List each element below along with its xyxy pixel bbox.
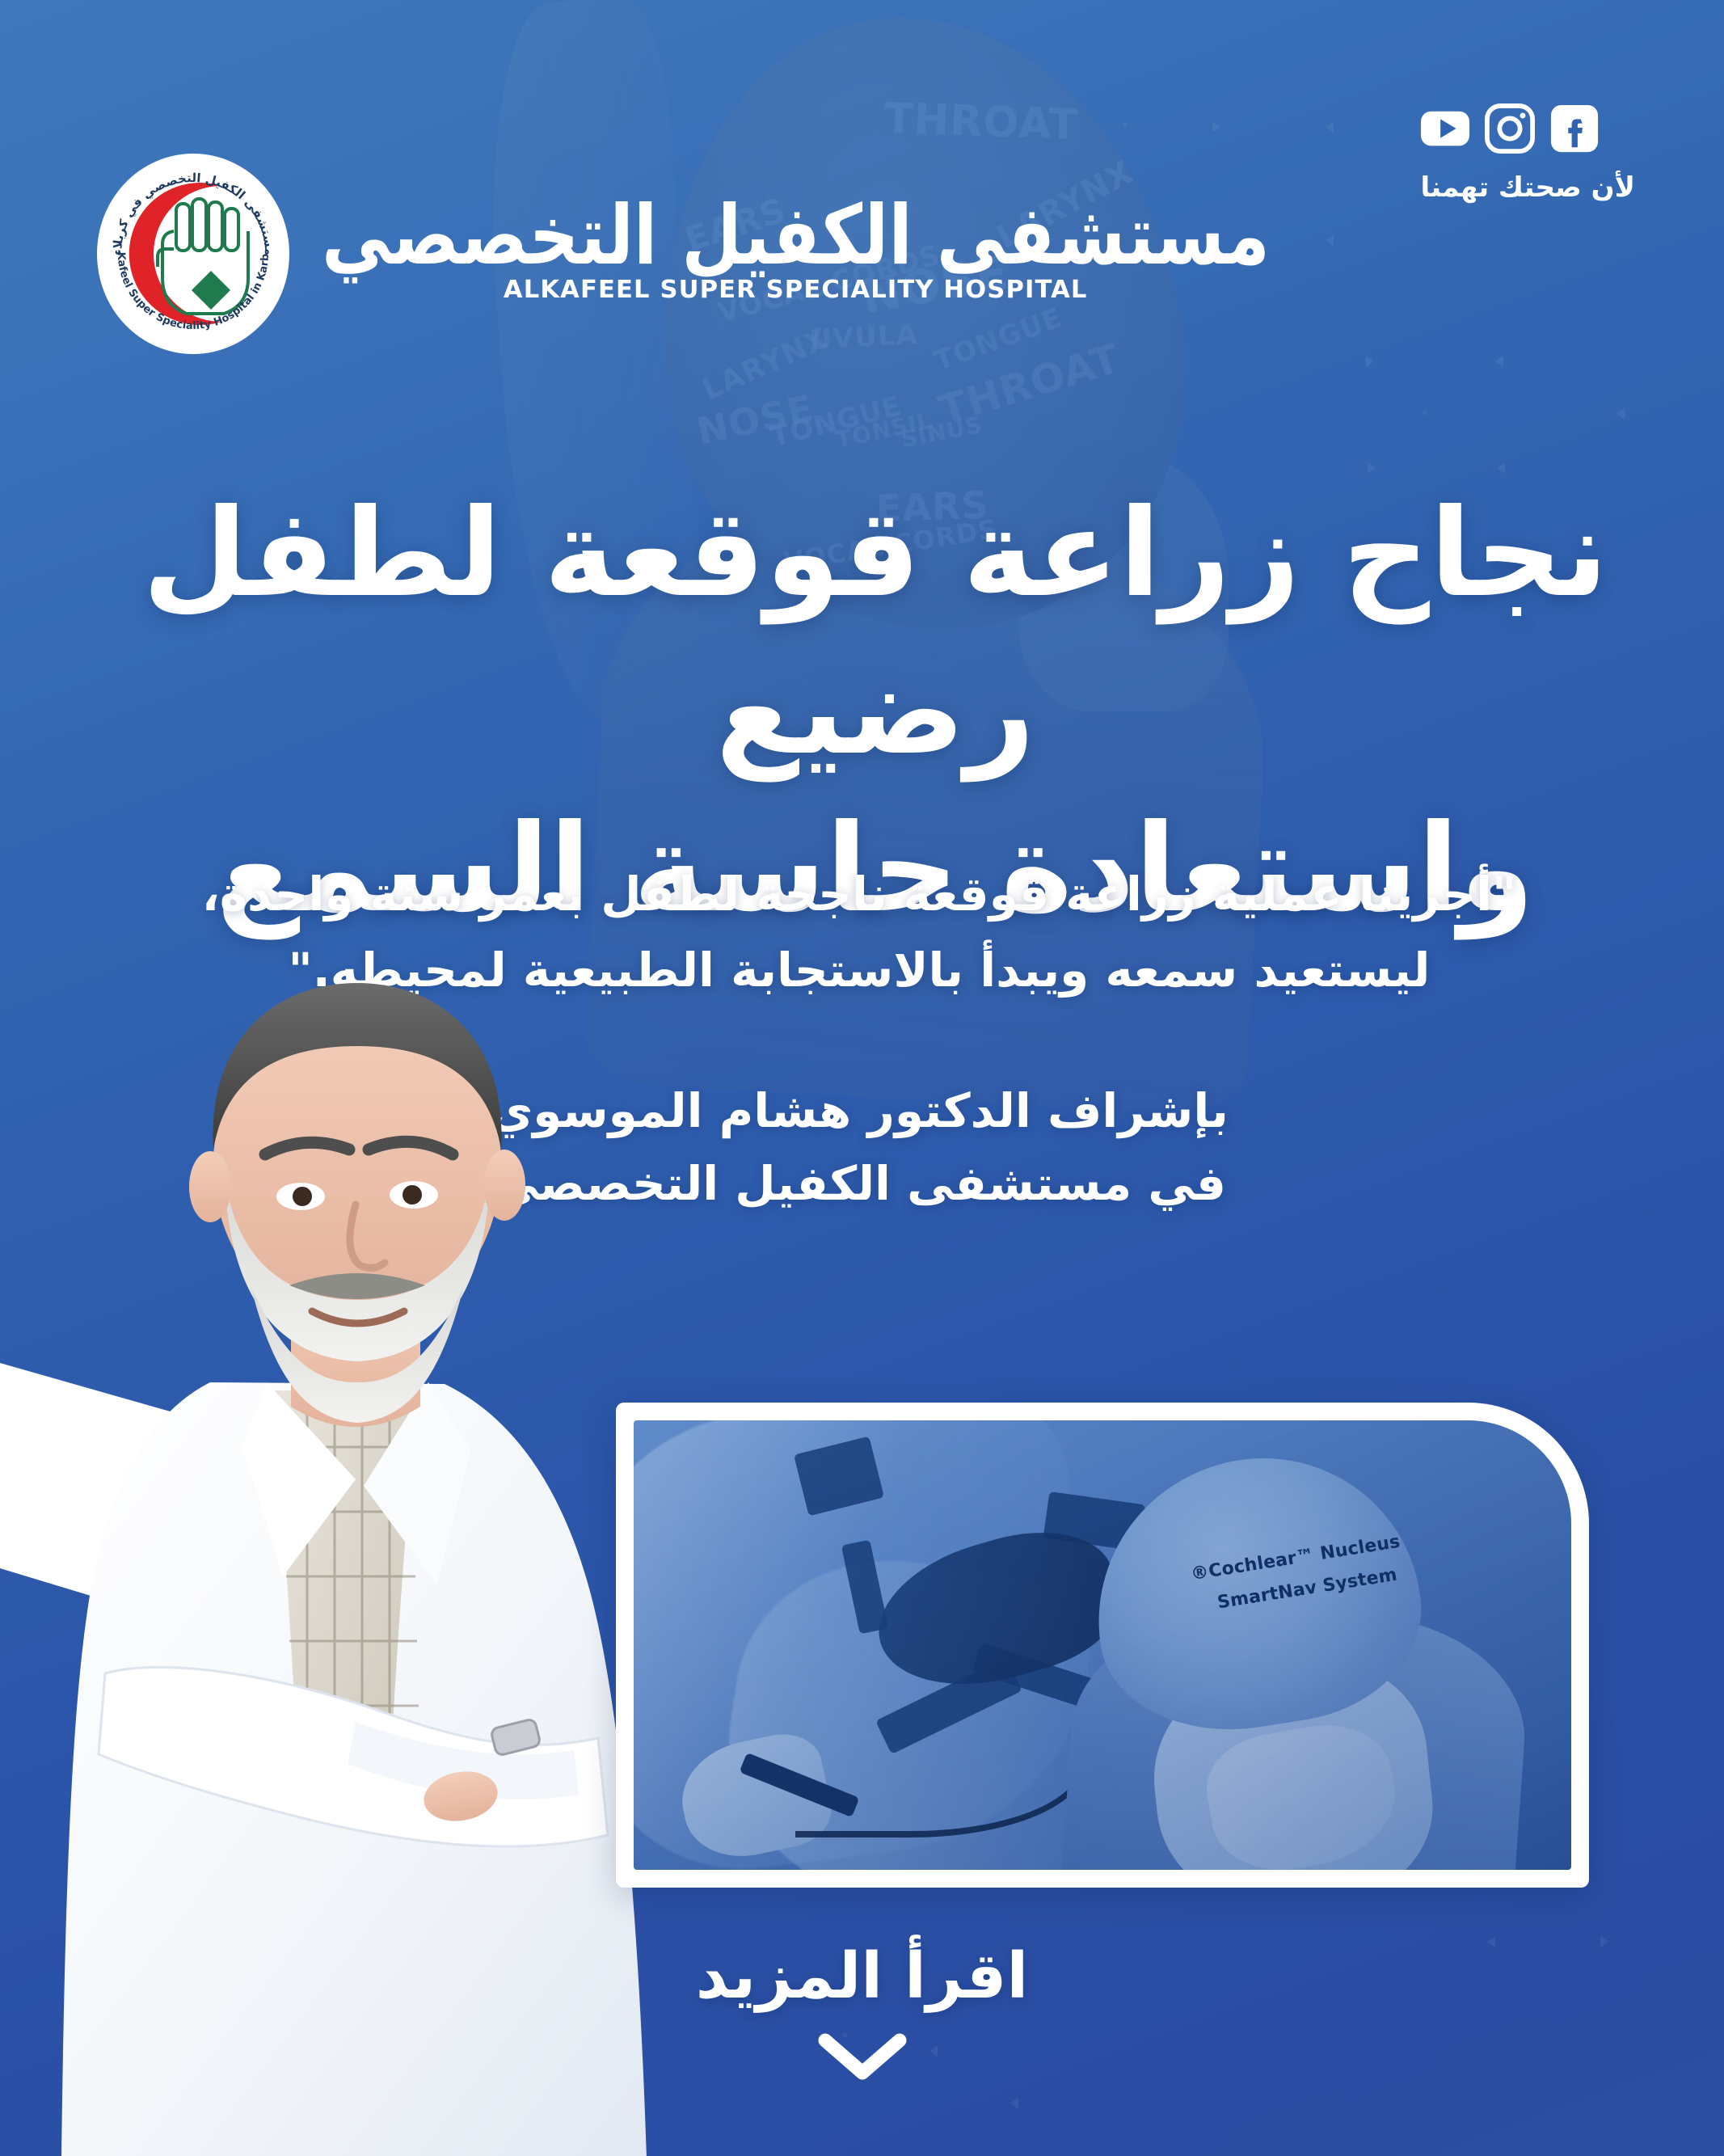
brand-lockup: مستشفى الكفيل التخصصي في كربلاء Al-Kafee… xyxy=(97,154,1270,354)
read-more-cta[interactable]: اقرأ المزيد xyxy=(0,1940,1724,2082)
social-icon-row xyxy=(1420,103,1600,154)
doctor-hand xyxy=(419,1766,501,1826)
decorative-swoosh xyxy=(0,1302,453,1754)
wordmark: مستشفى الكفيل التخصصي ALKAFEEL SUPER SPE… xyxy=(322,204,1270,305)
doctor-shirt xyxy=(275,1390,417,1819)
doctor-smile xyxy=(312,1311,404,1323)
social-block: لأن صحتك تهمنا xyxy=(1420,103,1635,204)
ghost-word: TONSIL xyxy=(833,407,934,453)
coat-lapel-left xyxy=(242,1382,356,1576)
ghost-word: TONGUE xyxy=(768,390,905,454)
poster-canvas: EARS NOSE THROAT VOCAL CORDS TONGUE LARY… xyxy=(0,0,1724,2156)
quote-text: "أجرينا عملية زراعة قوقعة ناجحة لطفل بعم… xyxy=(116,857,1603,1009)
doctor-moustache xyxy=(289,1273,425,1299)
wordmark-arabic: مستشفى الكفيل التخصصي xyxy=(322,197,1270,275)
headline-line-1: نجاح زراعة قوقعة لطفل رضيع xyxy=(124,475,1627,791)
doctor-arms-crossed xyxy=(99,1667,608,1846)
wordmark-english: ALKAFEEL SUPER SPECIALITY HOSPITAL xyxy=(504,276,1088,304)
photo-blue-tint xyxy=(634,1420,1571,1870)
brand-tagline: لأن صحتك تهمنا xyxy=(1420,171,1635,204)
doctor-wristwatch xyxy=(491,1719,542,1757)
facebook-icon[interactable] xyxy=(1549,103,1600,154)
attribution-hospital: في مستشفى الكفيل التخصصي xyxy=(116,1148,1603,1221)
instagram-icon[interactable] xyxy=(1485,103,1535,154)
ghost-word: NOSE xyxy=(693,386,817,454)
ghost-word: SINUS xyxy=(899,411,984,454)
surgery-photo-card: Cochlear™ Nucleus® SmartNav System xyxy=(616,1403,1589,1888)
shirt-check-pattern xyxy=(281,1392,419,1819)
read-more-label[interactable]: اقرأ المزيد xyxy=(696,1940,1028,2013)
attribution-doctor: بإشراف الدكتور هشام الموسوي xyxy=(116,1075,1603,1148)
youtube-icon[interactable] xyxy=(1420,103,1470,154)
surgery-photo: Cochlear™ Nucleus® SmartNav System xyxy=(634,1420,1571,1870)
chevron-down-icon[interactable] xyxy=(817,2031,908,2082)
attribution: بإشراف الدكتور هشام الموسوي في مستشفى ال… xyxy=(116,1075,1603,1221)
coat-lapel-right xyxy=(364,1382,470,1584)
alkafeel-crest-icon: مستشفى الكفيل التخصصي في كربلاء Al-Kafee… xyxy=(97,154,289,354)
ghost-word: THROAT xyxy=(883,95,1078,150)
